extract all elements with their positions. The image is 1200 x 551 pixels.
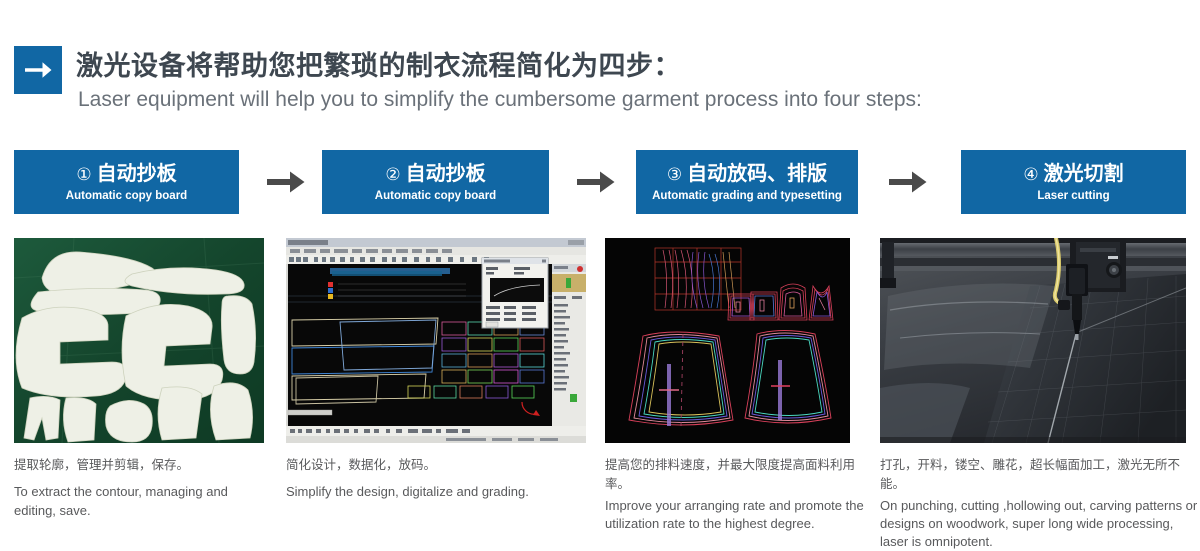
cad-software-screenshot bbox=[286, 238, 586, 443]
caption-1: 提取轮廓，管理并剪辑，保存。 To extract the contour, m… bbox=[14, 455, 264, 520]
caption-3: 提高您的排料速度，并最大限度提高面料利用率。 Improve your arra… bbox=[605, 455, 865, 533]
step-1-label-en: Automatic copy board bbox=[66, 189, 187, 203]
header: 激光设备将帮助您把繁琐的制衣流程简化为四步： Laser equipment w… bbox=[14, 44, 1186, 130]
captions: 提取轮廓，管理并剪辑，保存。 To extract the contour, m… bbox=[14, 455, 1194, 545]
step-4-label-cn: 激光切割 bbox=[1044, 162, 1124, 184]
caption-4-en: On punching, cutting ,hollowing out, car… bbox=[880, 497, 1200, 551]
step-1-number: ① bbox=[76, 164, 91, 186]
step-2-label-cn: 自动抄板 bbox=[406, 162, 486, 184]
step-4-label-en: Laser cutting bbox=[1037, 189, 1109, 203]
arrow-right-icon bbox=[14, 46, 62, 94]
page-subtitle: Laser equipment will help you to simplif… bbox=[78, 88, 922, 112]
step-box-1[interactable]: ① 自动抄板 Automatic copy board bbox=[14, 150, 239, 214]
caption-2: 简化设计，数据化，放码。 Simplify the design, digita… bbox=[286, 455, 586, 501]
step-1-title: ① 自动抄板 bbox=[76, 162, 176, 186]
step-arrow-icon-1 bbox=[264, 166, 308, 198]
caption-1-en: To extract the contour, managing and edi… bbox=[14, 482, 264, 520]
caption-1-cn: 提取轮廓，管理并剪辑，保存。 bbox=[14, 455, 264, 474]
step-box-3[interactable]: ③ 自动放码、排版 Automatic grading and typesett… bbox=[636, 150, 858, 214]
step-box-4[interactable]: ④ 激光切割 Laser cutting bbox=[961, 150, 1186, 214]
step-4-title: ④ 激光切割 bbox=[1023, 162, 1123, 186]
step-box-2[interactable]: ② 自动抄板 Automatic copy board bbox=[322, 150, 549, 214]
laser-cutting-machine-photo bbox=[880, 238, 1186, 443]
process-steps: ① 自动抄板 Automatic copy board ② 自动抄板 Autom… bbox=[14, 150, 1186, 214]
fabric-pattern-pieces-photo bbox=[14, 238, 264, 443]
caption-4: 打孔，开料，镂空、雕花，超长幅面加工，激光无所不能。 On punching, … bbox=[880, 455, 1200, 551]
step-2-label-en: Automatic copy board bbox=[375, 189, 496, 203]
caption-3-en: Improve your arranging rate and promote … bbox=[605, 497, 865, 533]
caption-4-cn: 打孔，开料，镂空、雕花，超长幅面加工，激光无所不能。 bbox=[880, 455, 1200, 493]
caption-3-cn: 提高您的排料速度，并最大限度提高面料利用率。 bbox=[605, 455, 865, 493]
step-3-label-cn: 自动放码、排版 bbox=[687, 162, 827, 184]
caption-2-cn: 简化设计，数据化，放码。 bbox=[286, 455, 586, 474]
step-2-number: ② bbox=[385, 164, 400, 186]
step-3-number: ③ bbox=[667, 164, 682, 186]
page-title: 激光设备将帮助您把繁琐的制衣流程简化为四步： bbox=[76, 44, 681, 83]
gallery bbox=[14, 238, 1186, 443]
step-1-label-cn: 自动抄板 bbox=[97, 162, 177, 184]
step-2-title: ② 自动抄板 bbox=[385, 162, 485, 186]
caption-2-en: Simplify the design, digitalize and grad… bbox=[286, 482, 586, 501]
step-4-number: ④ bbox=[1023, 164, 1038, 186]
laser-garment-process-infographic: 激光设备将帮助您把繁琐的制衣流程简化为四步： Laser equipment w… bbox=[0, 0, 1200, 548]
step-3-title: ③ 自动放码、排版 bbox=[667, 162, 827, 186]
step-arrow-icon-3 bbox=[886, 166, 930, 198]
pattern-grading-nesting-screen bbox=[605, 238, 850, 443]
step-arrow-icon-2 bbox=[574, 166, 618, 198]
step-3-label-en: Automatic grading and typesetting bbox=[652, 189, 842, 203]
